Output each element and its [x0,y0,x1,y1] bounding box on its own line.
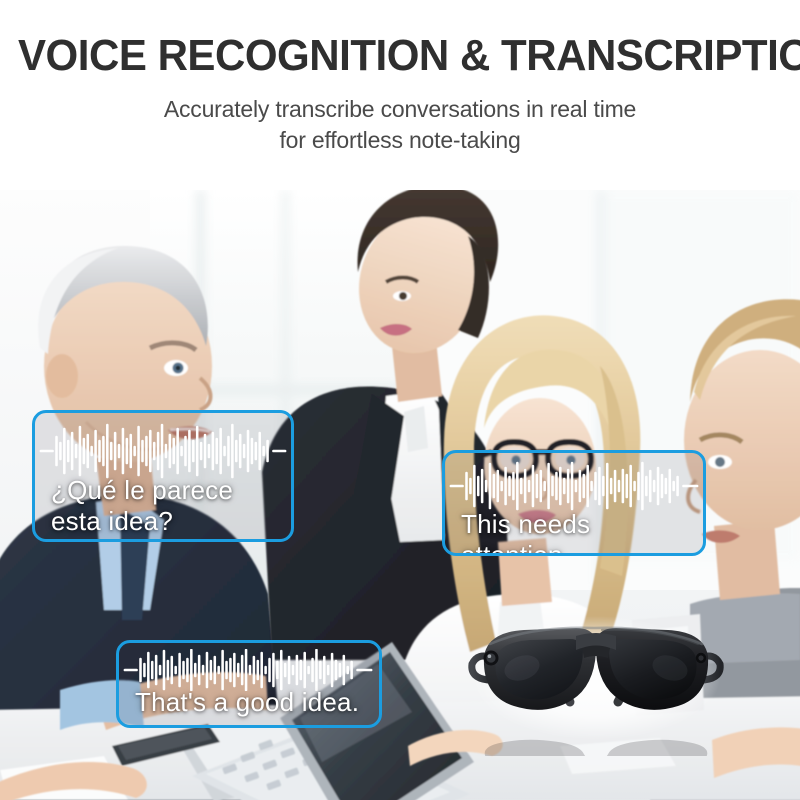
caption-bubble-spanish[interactable]: ¿Qué le parece esta idea? [32,410,294,542]
subtitle-line-2: for effortless note-taking [60,125,740,156]
audio-waveform-icon [35,423,291,479]
page-title: VOICE RECOGNITION & TRANSCRIPTION [18,30,782,82]
caption-text: That's a good idea. [135,687,369,718]
caption-bubble-attention[interactable]: This needs attention [442,450,706,556]
camera-lens-icon [484,651,499,666]
smart-glasses-product[interactable] [462,596,730,756]
subtitle-line-1: Accurately transcribe conversations in r… [60,94,740,125]
audio-waveform-icon [119,649,379,691]
header-section: VOICE RECOGNITION & TRANSCRIPTION Accura… [0,0,800,190]
caption-text: This needs attention [461,509,693,556]
caption-bubble-good-idea[interactable]: That's a good idea. [116,640,382,728]
caption-text: ¿Qué le parece esta idea? [51,475,281,537]
page-subtitle: Accurately transcribe conversations in r… [60,94,740,156]
product-feature-banner: VOICE RECOGNITION & TRANSCRIPTION Accura… [0,0,800,800]
audio-waveform-icon [445,461,703,511]
